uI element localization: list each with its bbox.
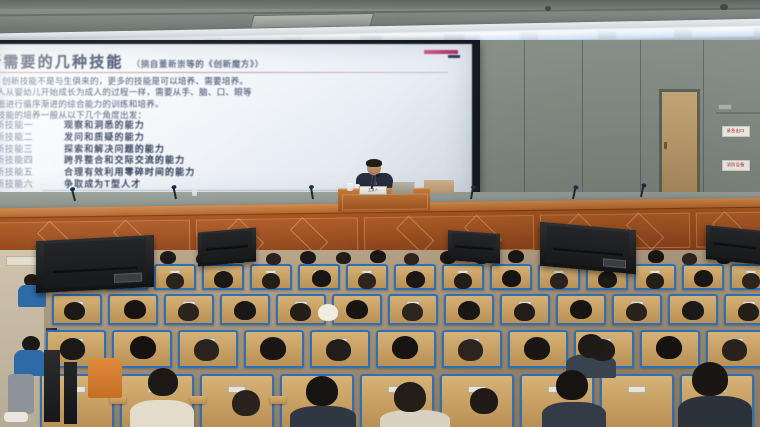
door-handle-icon[interactable] <box>664 142 667 149</box>
slide-body-line: 个人从婴幼儿开始成长为成人的过程一样，需要从手、脑、口、眼等 <box>0 87 458 98</box>
stage-monitor-speaker <box>198 227 256 266</box>
audience-head <box>130 336 156 359</box>
wall-control-plate[interactable] <box>718 104 732 110</box>
audience-head <box>392 336 418 359</box>
audience-head <box>166 273 184 289</box>
slide-skill-value: 跨界整合和交际交流的能力 <box>64 155 185 166</box>
seat-armrest <box>270 396 286 404</box>
speaker-hair <box>366 159 382 167</box>
slide-body-line: 方面进行循序渐进的综合能力的训练和培养。 <box>0 99 458 110</box>
presentation-slide: 所需要的几种技能（摘自董新崇等的《创新魔方》） 创新技能不是与生俱来的，更多的技… <box>0 44 472 199</box>
stage-monitor-speaker <box>448 230 500 264</box>
audience-head <box>194 339 219 361</box>
lecture-hall-photo: 紧急出口 消防设备 禁止吸烟 所需要的几种技能（摘自董新崇等的《创新魔方》） 创… <box>0 0 760 427</box>
audience-head <box>682 301 704 320</box>
audience-head <box>358 273 376 289</box>
audience-shoulders <box>130 400 194 427</box>
audience-head <box>404 253 419 265</box>
desk-panel-diamond <box>396 215 434 253</box>
slide-title: 所需要的几种技能（摘自董新崇等的《创新魔方》） <box>0 51 264 72</box>
audience-shoulders <box>290 406 356 427</box>
audience-head <box>556 370 588 400</box>
ceiling-lamp-icon <box>616 29 674 38</box>
side-door[interactable] <box>662 92 697 199</box>
audience-head <box>306 376 338 406</box>
slide-skill-item: 创新技能三 探索和解决问题的能力 <box>0 144 446 155</box>
audience-head <box>470 388 498 414</box>
wall-sign-label: 消防设备 <box>727 163 745 167</box>
water-cup <box>347 183 353 191</box>
audience-head <box>326 339 351 361</box>
audience-head <box>550 273 568 289</box>
aisle-person-legs <box>8 374 34 414</box>
audience-shoulders <box>678 396 752 427</box>
audience-head <box>336 252 351 264</box>
projection-screen: 所需要的几种技能（摘自董新崇等的《创新魔方》） 创新技能不是与生俱来的，更多的技… <box>0 44 472 199</box>
speaker-nameplate-label: 主讲人 <box>361 187 384 193</box>
slide-skill-key: 创新技能五 <box>0 167 64 178</box>
wall-sign: 紧急出口 <box>722 126 750 137</box>
wall-sign-rail <box>716 112 760 114</box>
ceiling-lamp-icon <box>692 28 754 37</box>
slide-skill-key: 创新技能一 <box>0 120 64 131</box>
slide-skill-value: 探索和解决问题的能力 <box>64 144 165 155</box>
slide-skill-key: 创新技能六 <box>0 179 64 190</box>
wall-sign-label: 紧急出口 <box>727 129 745 133</box>
audience-head <box>454 273 472 289</box>
slide-body-paragraph: 创新技能不是与生俱来的，更多的技能是可以培养、需要培养。 个人从婴幼儿开始成长为… <box>0 76 458 122</box>
audience-shoulders <box>380 410 450 427</box>
slide-skill-key: 创新技能四 <box>0 155 64 166</box>
aisle-person-torso <box>14 350 46 376</box>
audience-head <box>508 250 524 263</box>
aisle-divider-post <box>64 362 77 424</box>
audience-head <box>346 300 368 319</box>
audience-head <box>648 250 664 263</box>
speaker-microphone-icon <box>376 174 380 177</box>
slide-skill-value: 发问和质疑的能力 <box>64 132 145 143</box>
audience-head <box>458 339 483 361</box>
seat-armrest <box>190 396 206 404</box>
audience-head <box>260 337 286 360</box>
speaker-table-panel <box>342 194 428 211</box>
auditorium-seat[interactable] <box>600 374 674 427</box>
audience-head <box>266 253 281 265</box>
audience-head <box>656 336 682 359</box>
slide-footer-divider <box>42 190 372 191</box>
audience-head <box>646 273 664 289</box>
stage-monitor-speaker <box>540 222 636 274</box>
audience-head <box>682 253 697 265</box>
audience-head <box>502 270 521 287</box>
audience-head <box>570 300 592 319</box>
audience-head <box>722 339 747 361</box>
ceiling-spotlight-icon <box>720 4 728 10</box>
audience-head <box>300 251 316 264</box>
audience-head <box>148 368 178 396</box>
wall-sign: 消防设备 <box>722 160 750 171</box>
audience-head <box>262 273 280 289</box>
slide-title-attribution: （摘自董新崇等的《创新魔方》） <box>132 59 264 69</box>
audience-head <box>694 270 713 287</box>
audience-head <box>406 271 425 288</box>
slide-body-line: 创新技能不是与生俱来的，更多的技能是可以培养、需要培养。 <box>0 76 458 87</box>
audience-head <box>60 338 85 360</box>
slide-skill-key: 创新技能二 <box>0 132 64 143</box>
stage-monitor-speaker <box>706 225 760 265</box>
aisle-divider-post <box>44 350 60 422</box>
slide-skill-value: 观察和洞悉的能力 <box>64 120 145 131</box>
audience-head <box>738 303 759 321</box>
audience-head <box>232 390 260 416</box>
ceiling-spotlight-icon <box>545 6 551 11</box>
audience-shoulders <box>542 402 606 427</box>
audience-head <box>124 300 146 319</box>
slide-title-text: 所需要的几种技能 <box>0 54 124 71</box>
audience-head <box>234 301 256 320</box>
slide-title-divider <box>0 72 448 73</box>
audience-head <box>458 301 480 320</box>
aisle-person-shoe <box>4 412 28 422</box>
audience-head <box>514 303 535 321</box>
slide-accent-bar <box>424 50 458 54</box>
slide-skill-value: 争取成为T型人才 <box>64 179 141 190</box>
audience-head <box>692 362 728 396</box>
slide-skill-value: 合理有效利用零碎时间的能力 <box>64 167 195 178</box>
ceiling-lamp-icon <box>538 31 598 40</box>
aisle-notice-card <box>6 256 38 266</box>
audience-head <box>578 334 604 358</box>
slide-skill-item: 创新技能二 发问和质疑的能力 <box>0 132 446 143</box>
audience-head <box>64 302 85 320</box>
audience-head <box>312 270 331 287</box>
audience-head <box>402 303 423 321</box>
slide-skill-key: 创新技能三 <box>0 144 64 155</box>
audience-head <box>394 382 426 412</box>
podium-laptop[interactable] <box>391 182 415 194</box>
slide-skill-item: 创新技能一 观察和洞悉的能力 <box>0 120 446 131</box>
stage-monitor-speaker <box>36 235 154 293</box>
audience-head <box>160 251 176 264</box>
audience-head <box>626 303 647 321</box>
audience-head <box>290 303 311 321</box>
audience-head <box>598 271 617 288</box>
audience-orange-jacket <box>88 358 122 398</box>
speaker-badge <box>114 273 142 283</box>
audience-head <box>524 337 550 360</box>
audience-head <box>318 304 338 321</box>
audience-head <box>178 303 199 321</box>
desk-panel-diamond <box>290 217 328 255</box>
audience-head <box>742 273 760 289</box>
audience-head <box>214 271 233 288</box>
ceiling-dark-strip <box>0 0 760 9</box>
speaker-nameplate: 主讲人 <box>359 186 387 195</box>
slide-accent-bar-secondary <box>448 55 460 58</box>
audience-head <box>370 250 386 263</box>
water-bottle <box>192 185 197 196</box>
